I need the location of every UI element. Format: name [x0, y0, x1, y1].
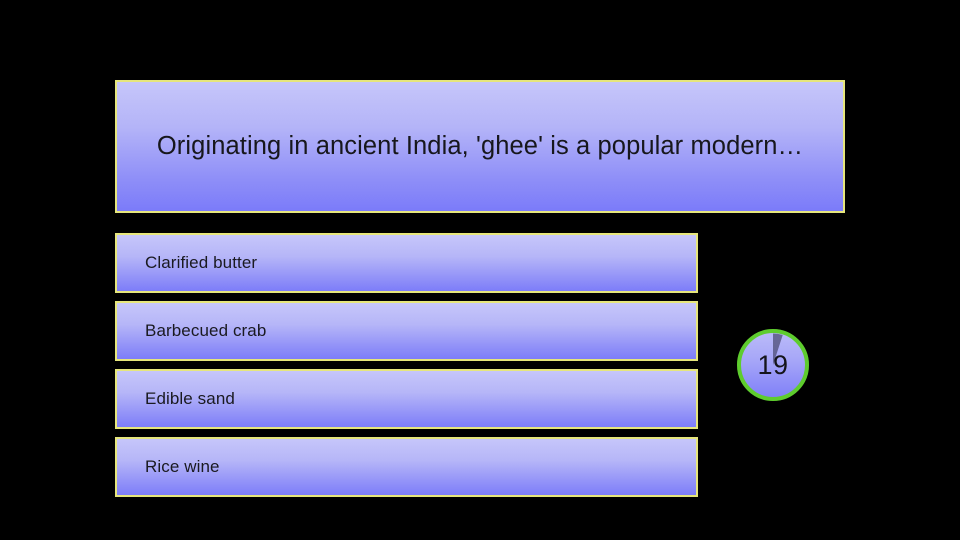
answer-button-0[interactable]: Clarified butter: [115, 233, 698, 293]
answer-label-1: Barbecued crab: [117, 321, 266, 341]
answer-button-1[interactable]: Barbecued crab: [115, 301, 698, 361]
countdown-timer-dial: [736, 328, 810, 402]
answer-label-2: Edible sand: [117, 389, 235, 409]
trivia-question-screen: Originating in ancient India, 'ghee' is …: [0, 0, 960, 540]
answer-button-3[interactable]: Rice wine: [115, 437, 698, 497]
question-text: Originating in ancient India, 'ghee' is …: [135, 128, 825, 164]
question-panel: Originating in ancient India, 'ghee' is …: [115, 80, 845, 213]
answer-label-0: Clarified butter: [117, 253, 257, 273]
answer-button-2[interactable]: Edible sand: [115, 369, 698, 429]
countdown-timer: 19: [736, 328, 810, 402]
answer-label-3: Rice wine: [117, 457, 220, 477]
